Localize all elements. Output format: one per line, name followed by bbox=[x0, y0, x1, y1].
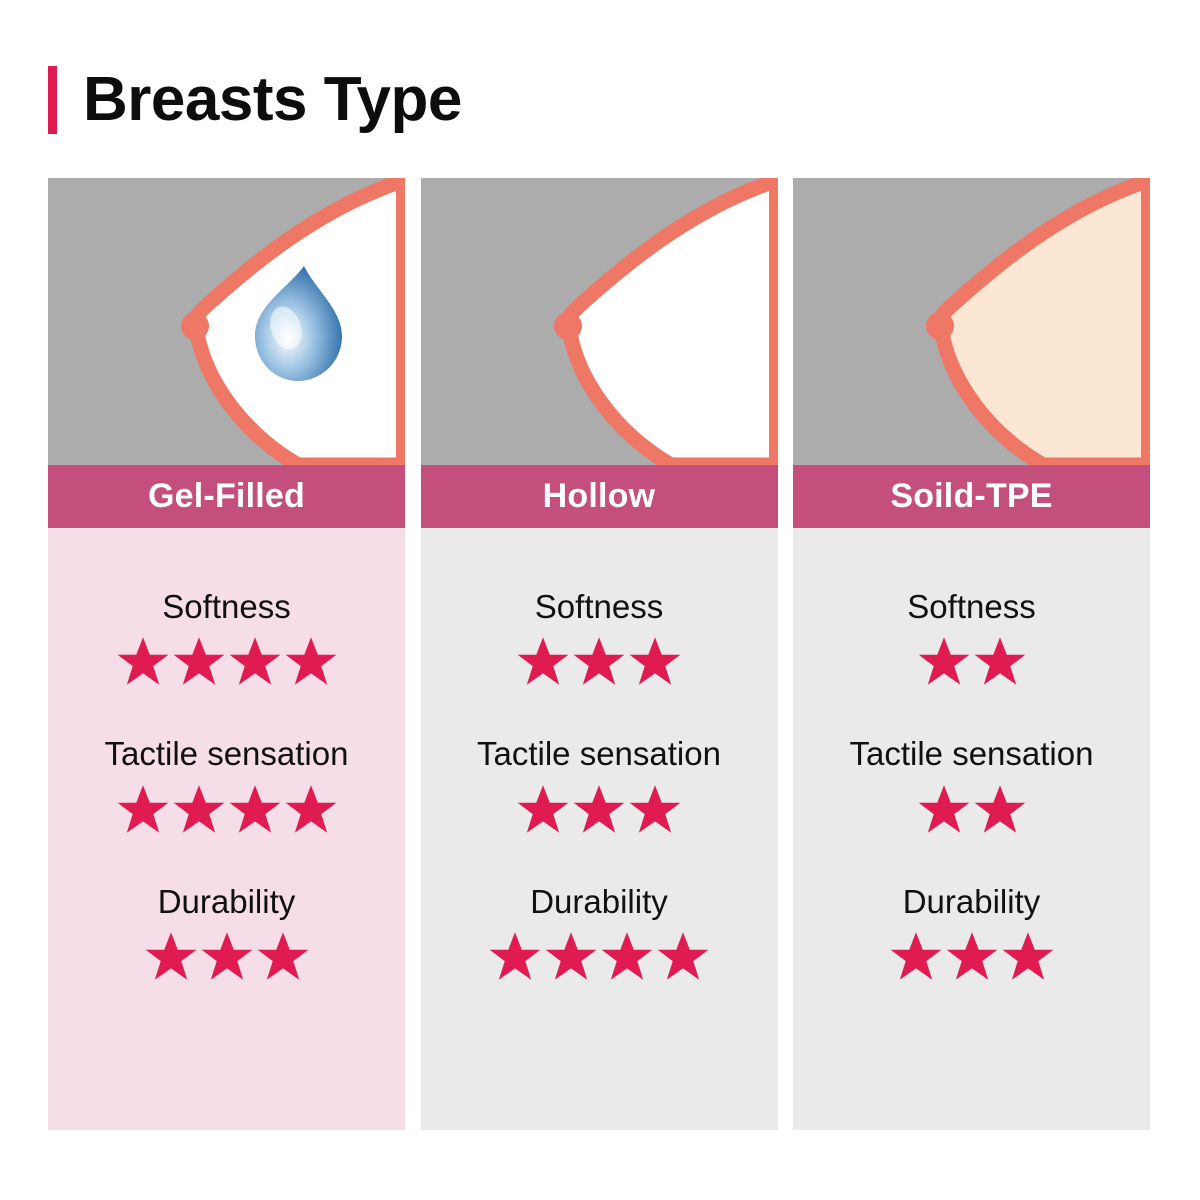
comparison-column-soild-tpe: Soild-TPESoftnessTactile sensationDurabi… bbox=[793, 178, 1150, 1130]
star-icon bbox=[917, 634, 971, 688]
metric-row: Softness bbox=[421, 586, 778, 689]
column-metrics-panel: SoftnessTactile sensationDurability bbox=[421, 528, 778, 1130]
star-rating bbox=[48, 781, 405, 837]
metric-label: Softness bbox=[793, 586, 1150, 627]
star-rating bbox=[48, 633, 405, 689]
metric-label: Durability bbox=[793, 881, 1150, 922]
breast-cross-section-solid-filled-icon bbox=[793, 178, 1150, 465]
star-icon bbox=[1001, 929, 1055, 983]
column-header-label: Hollow bbox=[421, 465, 778, 528]
star-icon bbox=[228, 782, 282, 836]
metric-row: Softness bbox=[48, 586, 405, 689]
star-icon bbox=[889, 929, 943, 983]
star-icon bbox=[600, 929, 654, 983]
star-icon bbox=[116, 782, 170, 836]
star-rating bbox=[421, 928, 778, 984]
page-title-block: Breasts Type bbox=[48, 64, 462, 136]
star-icon bbox=[144, 929, 198, 983]
star-icon bbox=[572, 782, 626, 836]
metric-row: Durability bbox=[793, 881, 1150, 984]
star-icon bbox=[172, 782, 226, 836]
star-rating bbox=[421, 781, 778, 837]
column-header-label: Gel-Filled bbox=[48, 465, 405, 528]
page-title: Breasts Type bbox=[83, 69, 462, 131]
star-icon bbox=[656, 929, 710, 983]
star-icon bbox=[256, 929, 310, 983]
title-accent-bar bbox=[48, 66, 57, 134]
star-icon bbox=[945, 929, 999, 983]
breast-cross-section-hollow-icon bbox=[421, 178, 778, 465]
breast-type-comparison-grid: Gel-FilledSoftnessTactile sensationDurab… bbox=[48, 178, 1150, 1130]
metric-row: Durability bbox=[421, 881, 778, 984]
metric-label: Softness bbox=[421, 586, 778, 627]
star-icon bbox=[284, 782, 338, 836]
metric-row: Tactile sensation bbox=[793, 733, 1150, 836]
star-icon bbox=[516, 782, 570, 836]
comparison-column-gel-filled: Gel-FilledSoftnessTactile sensationDurab… bbox=[48, 178, 405, 1130]
column-metrics-panel: SoftnessTactile sensationDurability bbox=[793, 528, 1150, 1130]
comparison-column-hollow: HollowSoftnessTactile sensationDurabilit… bbox=[421, 178, 778, 1130]
metric-row: Tactile sensation bbox=[421, 733, 778, 836]
breast-cross-section-with-water-drop-icon bbox=[48, 178, 405, 465]
column-metrics-panel: SoftnessTactile sensationDurability bbox=[48, 528, 405, 1130]
star-rating bbox=[793, 928, 1150, 984]
star-rating bbox=[793, 633, 1150, 689]
star-icon bbox=[488, 929, 542, 983]
star-icon bbox=[172, 634, 226, 688]
star-icon bbox=[516, 634, 570, 688]
metric-row: Softness bbox=[793, 586, 1150, 689]
star-rating bbox=[793, 781, 1150, 837]
star-icon bbox=[284, 634, 338, 688]
star-icon bbox=[628, 782, 682, 836]
star-rating bbox=[48, 928, 405, 984]
metric-label: Tactile sensation bbox=[421, 733, 778, 774]
star-icon bbox=[572, 634, 626, 688]
star-icon bbox=[917, 782, 971, 836]
star-icon bbox=[116, 634, 170, 688]
metric-label: Durability bbox=[48, 881, 405, 922]
star-icon bbox=[973, 782, 1027, 836]
metric-row: Durability bbox=[48, 881, 405, 984]
star-icon bbox=[200, 929, 254, 983]
star-icon bbox=[973, 634, 1027, 688]
column-header-label: Soild-TPE bbox=[793, 465, 1150, 528]
star-icon bbox=[228, 634, 282, 688]
metric-label: Softness bbox=[48, 586, 405, 627]
metric-label: Durability bbox=[421, 881, 778, 922]
metric-label: Tactile sensation bbox=[48, 733, 405, 774]
star-icon bbox=[628, 634, 682, 688]
metric-row: Tactile sensation bbox=[48, 733, 405, 836]
star-rating bbox=[421, 633, 778, 689]
metric-label: Tactile sensation bbox=[793, 733, 1150, 774]
star-icon bbox=[544, 929, 598, 983]
